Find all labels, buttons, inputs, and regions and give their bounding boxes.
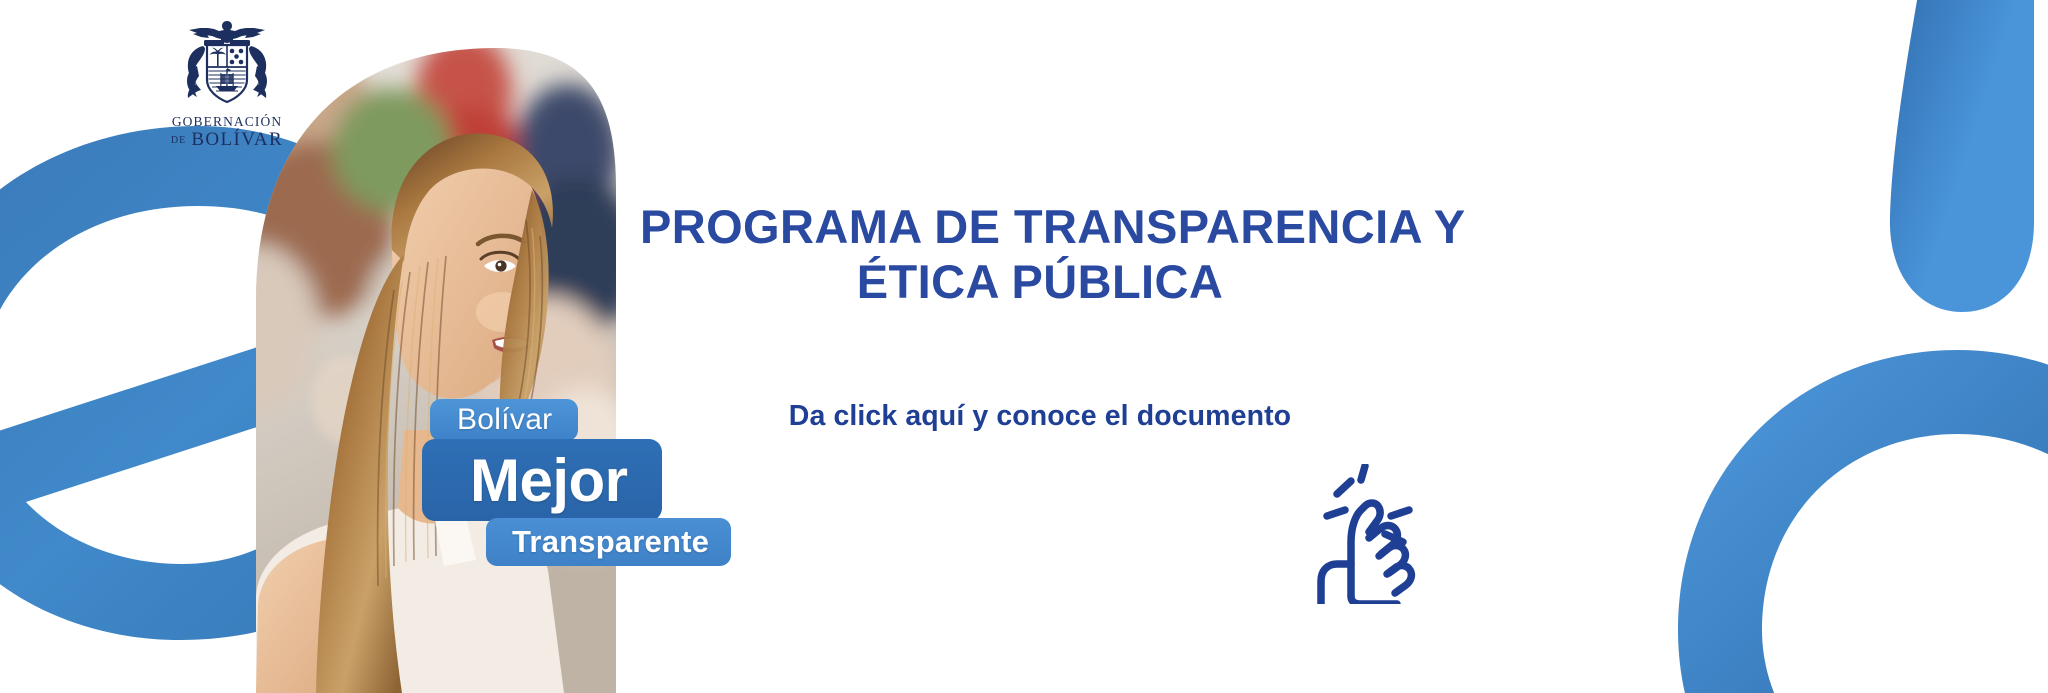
badge-transparente: Transparente: [486, 518, 731, 566]
headline-line-1: PROGRAMA DE TRANSPARENCIA Y: [640, 200, 1440, 255]
badge-mejor: Mejor: [422, 439, 662, 521]
page-title: PROGRAMA DE TRANSPARENCIA Y ÉTICA PÚBLIC…: [640, 200, 1440, 309]
right-arc-decoration: [1658, 330, 2048, 693]
right-stroke-decoration: [1828, 0, 2048, 320]
crest-de-text: DE: [171, 135, 186, 146]
cta-subtitle[interactable]: Da click aquí y conoce el documento: [640, 400, 1440, 433]
transparency-program-banner[interactable]: GOBERNACIÓN DE BOLÍVAR: [0, 0, 2048, 693]
audience-photo: [196, 0, 616, 693]
badge-bolivar: Bolívar: [430, 399, 578, 441]
headline-line-2: ÉTICA PÚBLICA: [640, 255, 1440, 310]
photo-mask: [196, 0, 616, 693]
photo-artwork: [196, 0, 616, 693]
hand-pointer-click-icon[interactable]: [1307, 464, 1437, 604]
